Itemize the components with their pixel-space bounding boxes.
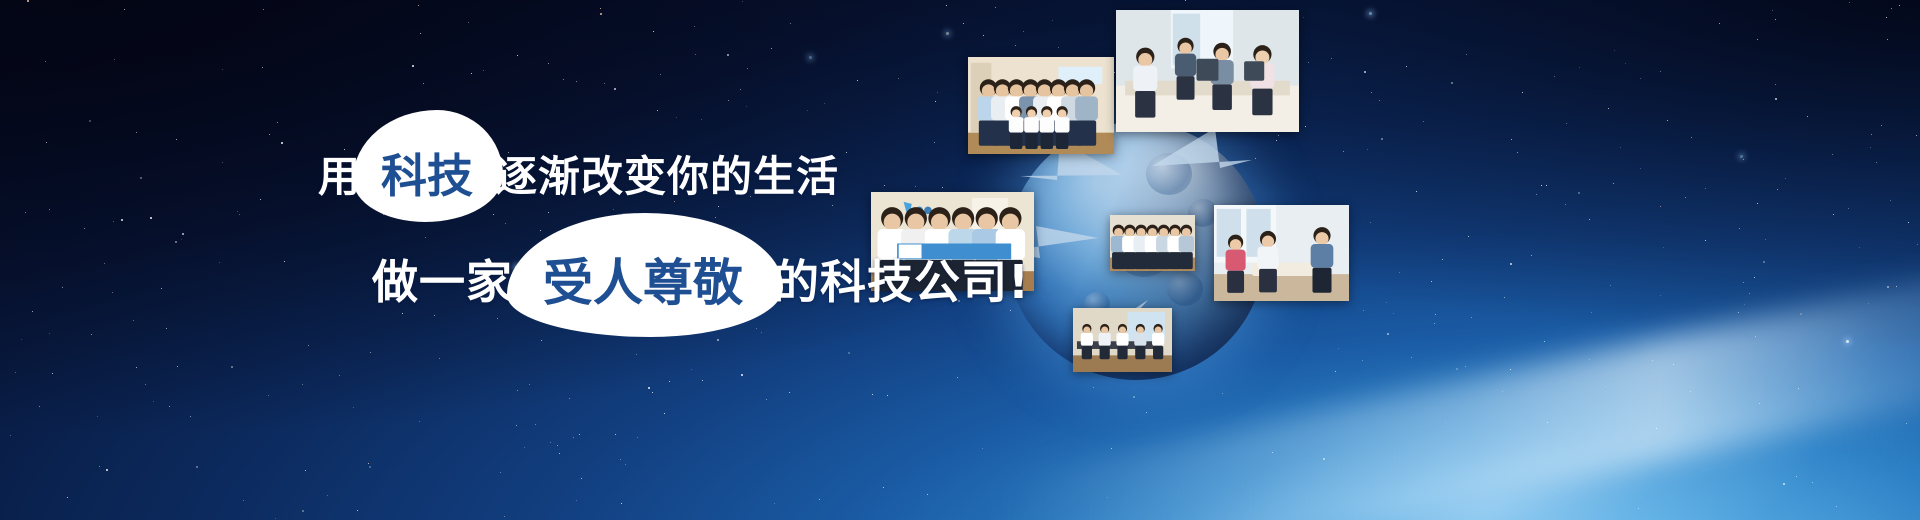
photo-meeting-discussion	[1214, 205, 1349, 301]
hero-banner: ●● 用 科技 逐渐改变你的生活 做一家 受人尊敬 的科技公司!	[0, 0, 1920, 520]
photo-training-classroom	[1073, 308, 1172, 372]
headline-line1-suffix: 逐渐改变你的生活	[495, 143, 839, 204]
headline-line2-highlight: 受人尊敬	[523, 243, 763, 315]
headline-block: 用 科技 逐渐改变你的生活 做一家 受人尊敬 的科技公司!	[0, 0, 960, 520]
photo-team-small-group	[1110, 215, 1195, 271]
photo-office-workstations	[1116, 10, 1299, 132]
headline-line2-prefix: 做一家	[372, 246, 513, 312]
headline-line-1: 用 科技 逐渐改变你的生活	[318, 140, 839, 206]
headline-line1-highlight: 科技	[365, 140, 489, 206]
photo-team-group-office	[968, 57, 1114, 154]
headline-line-2: 做一家 受人尊敬 的科技公司!	[372, 243, 1030, 315]
headline-line2-highlight-text: 受人尊敬	[543, 243, 743, 315]
headline-line2-suffix: 的科技公司!	[773, 246, 1030, 312]
headline-line1-highlight-text: 科技	[381, 140, 473, 206]
